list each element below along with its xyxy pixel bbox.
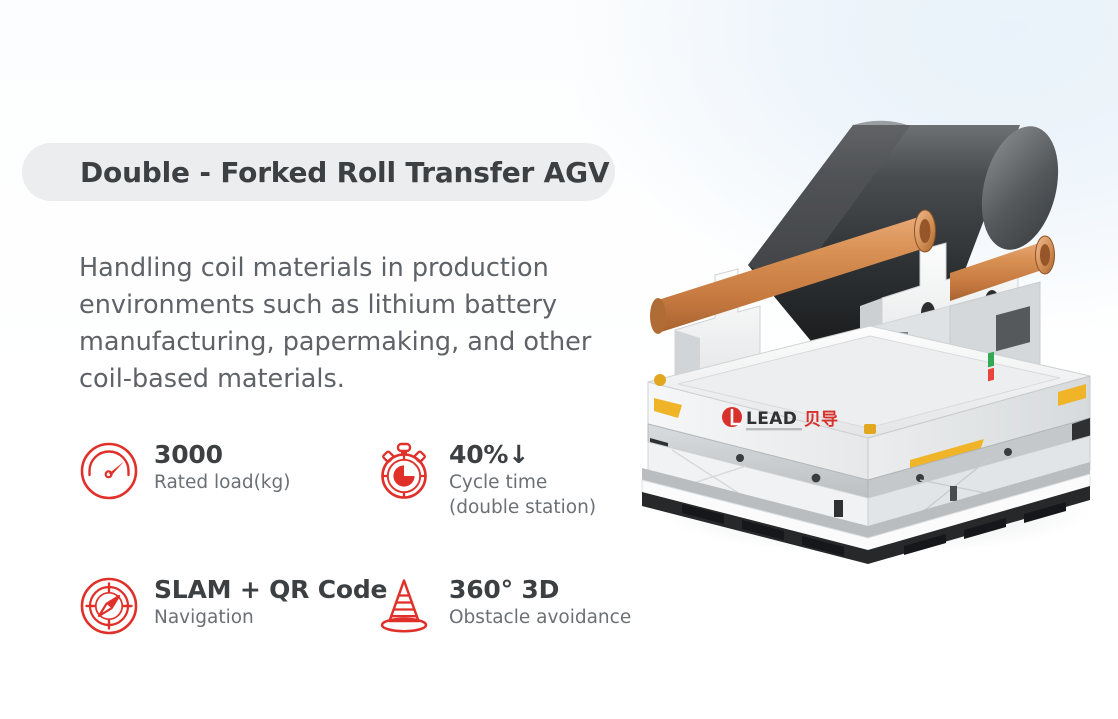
spec-grid: 3000 Rated load(kg) [78,438,638,637]
spec-text: SLAM + QR Code Navigation [154,573,387,630]
stopwatch-icon [373,440,435,502]
traffic-cone-icon [373,575,435,637]
spec-text: 3000 Rated load(kg) [154,438,290,495]
spec-value: 360° 3D [449,575,631,605]
spec-label: Navigation [154,605,387,630]
spec-row: 3000 Rated load(kg) [78,438,638,520]
product-image-agv: LEAD 贝导 [620,80,1118,600]
spec-text: 40%↓ Cycle time (double station) [449,438,596,520]
spec-row: SLAM + QR Code Navigation [78,573,638,637]
spec-item-obstacle-avoidance: 360° 3D Obstacle avoidance [373,573,638,637]
spec-value: SLAM + QR Code [154,575,387,605]
spec-value: 40%↓ [449,440,596,470]
product-title-pill: Double - Forked Roll Transfer AGV [22,143,615,201]
spec-label-secondary: (double station) [449,495,596,520]
product-showcase-slide: Double - Forked Roll Transfer AGV Handli… [0,0,1118,719]
svg-text:贝导: 贝导 [804,410,838,430]
product-description: Handling coil materials in production en… [79,250,649,398]
spec-item-navigation: SLAM + QR Code Navigation [78,573,373,637]
spec-value: 3000 [154,440,290,470]
svg-text:LEAD: LEAD [746,409,797,429]
compass-icon [78,575,140,637]
spec-item-rated-load: 3000 Rated load(kg) [78,438,373,520]
spec-item-cycle-time: 40%↓ Cycle time (double station) [373,438,638,520]
spec-text: 360° 3D Obstacle avoidance [449,573,631,630]
spec-label: Rated load(kg) [154,470,290,495]
gauge-icon [78,440,140,502]
spec-label: Cycle time [449,470,596,495]
page-title: Double - Forked Roll Transfer AGV [80,156,609,189]
spec-label: Obstacle avoidance [449,605,631,630]
